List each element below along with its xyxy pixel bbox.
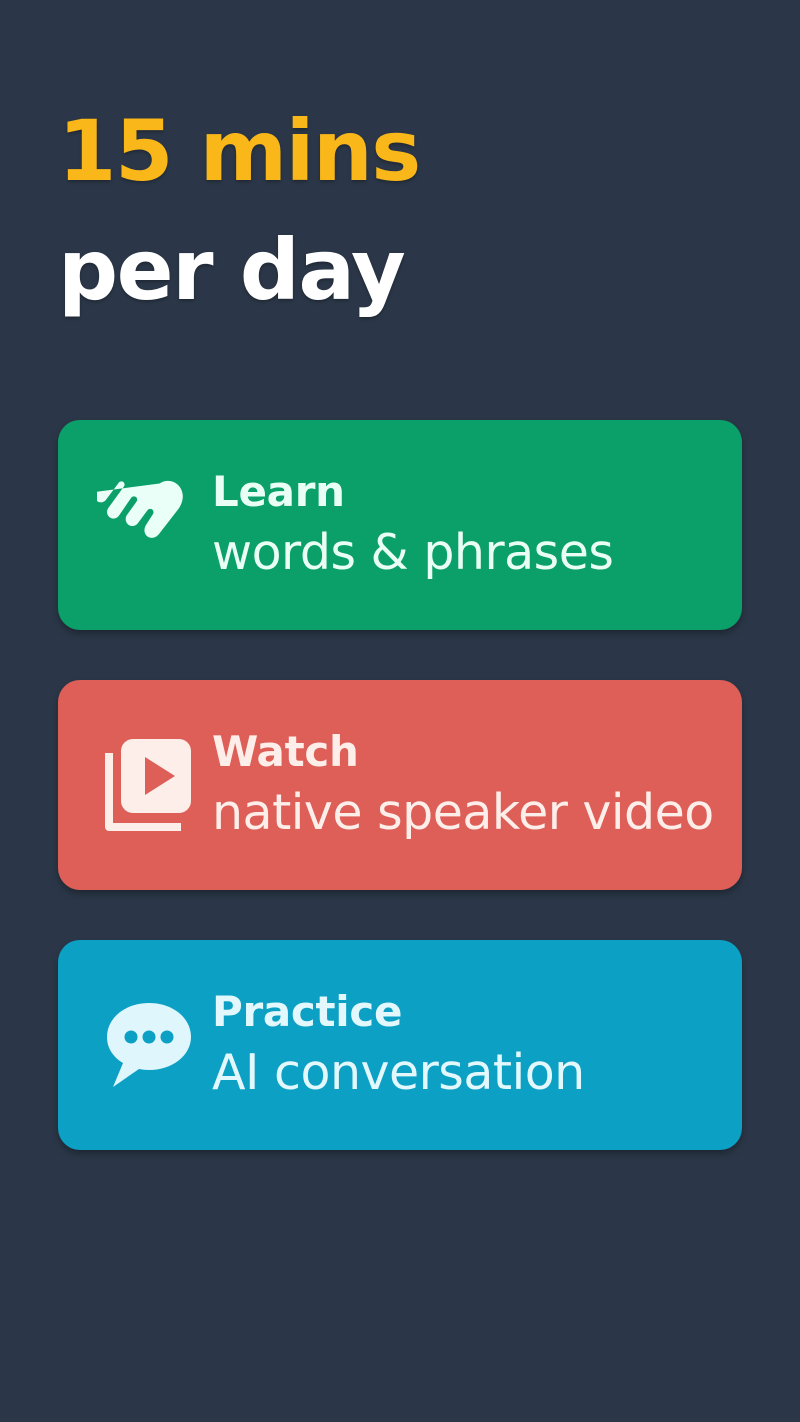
feature-card-learn[interactable]: Learn words & phrases — [58, 420, 742, 630]
feature-card-list: Learn words & phrases Watch native speak… — [58, 420, 742, 1150]
feature-card-title: Practice — [212, 990, 726, 1034]
feature-card-text: Learn words & phrases — [212, 470, 742, 581]
headline-line-frequency: per day — [58, 211, 758, 330]
feature-card-title: Watch — [212, 730, 726, 774]
headline: 15 mins per day — [58, 92, 758, 331]
feature-card-text: Practice AI conversation — [212, 990, 742, 1101]
pointing-hand-icon — [86, 469, 212, 581]
feature-card-subtitle: native speaker video — [212, 786, 726, 841]
feature-card-watch[interactable]: Watch native speaker video — [58, 680, 742, 890]
feature-card-title: Learn — [212, 470, 726, 514]
promo-screen: 15 mins per day Learn words & phrases — [0, 0, 800, 1422]
video-stack-play-icon — [86, 735, 212, 835]
feature-card-text: Watch native speaker video — [212, 730, 742, 841]
feature-card-subtitle: words & phrases — [212, 526, 726, 581]
feature-card-practice[interactable]: Practice AI conversation — [58, 940, 742, 1150]
headline-line-duration: 15 mins — [58, 92, 758, 211]
feature-card-subtitle: AI conversation — [212, 1046, 726, 1101]
chat-bubble-dots-icon — [86, 995, 212, 1095]
